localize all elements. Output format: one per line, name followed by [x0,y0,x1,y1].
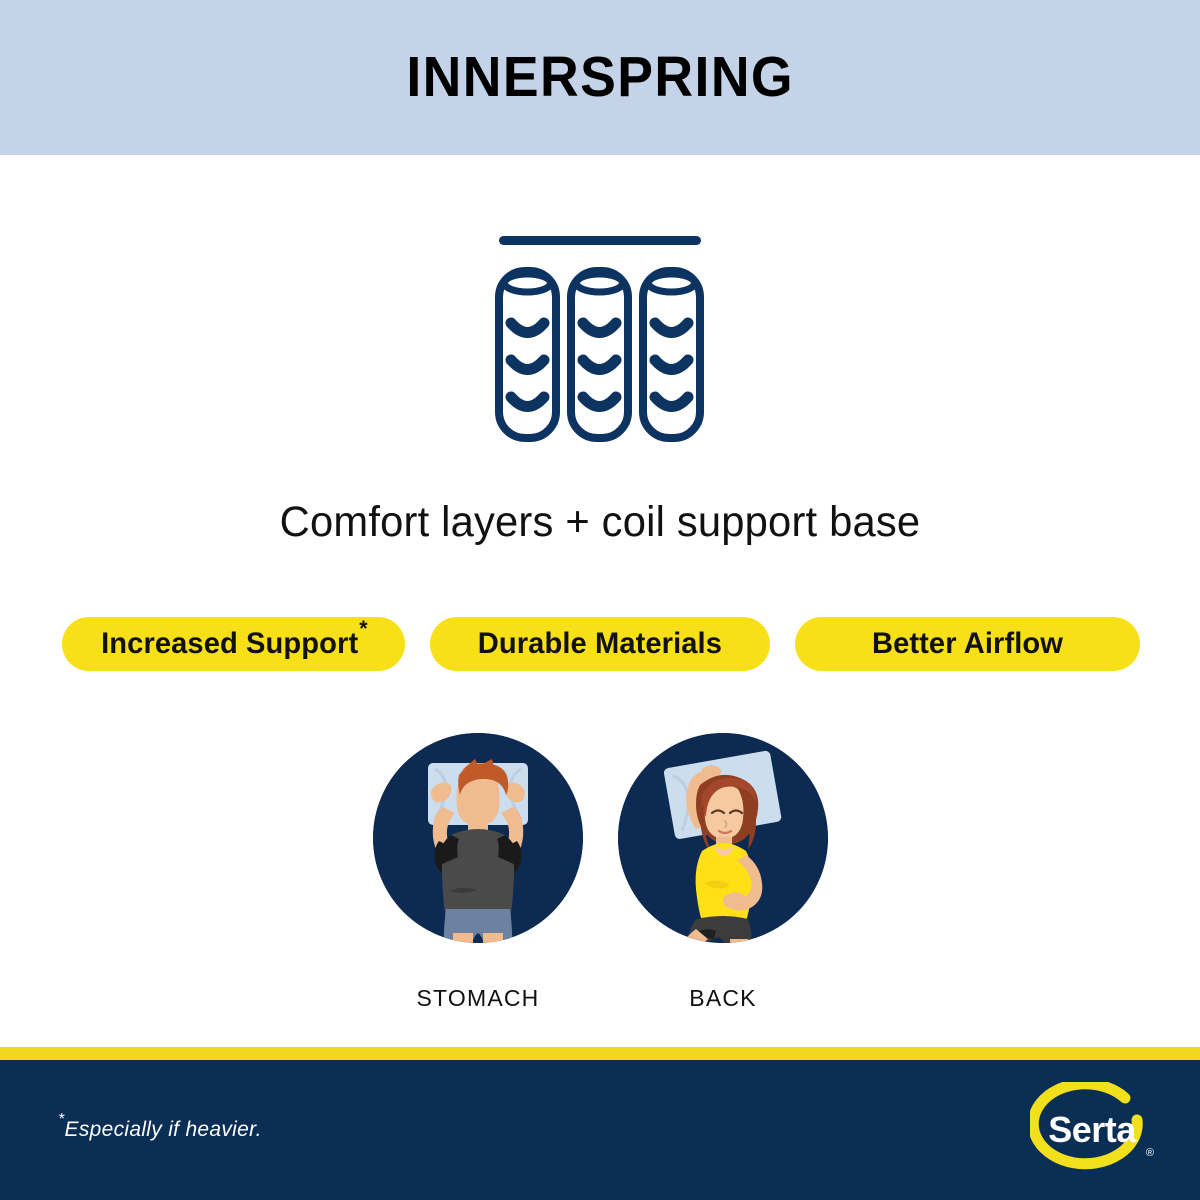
serta-logo[interactable]: Serta ® [1030,1082,1160,1182]
sleep-position-label-stomach: STOMACH [373,985,583,1012]
footnote-asterisk-icon: * [58,1111,65,1128]
serta-swoosh [1033,1084,1137,1164]
back-sleeper-illustration [618,733,828,943]
feature-pill-better-airflow[interactable]: Better Airflow [795,617,1140,671]
feature-pill-row: Increased Support* Durable Materials Bet… [62,617,1140,671]
shirt [439,829,517,921]
stomach-sleeper-illustration [373,733,583,943]
coil-3 [643,271,700,438]
sleep-position-card-back[interactable]: BACK [618,733,828,1012]
feature-pill-label: Durable Materials [478,627,722,660]
feature-pill-label: Increased Support [101,627,358,660]
header-band: INNERSPRING [0,0,1200,155]
footnote-marker-icon: * [359,616,367,641]
footnote-text: Especially if heavier. [65,1118,262,1141]
page-title: INNERSPRING [406,49,794,106]
feature-pill-increased-support[interactable]: Increased Support* [62,617,405,671]
coil-1 [499,271,556,438]
coil-stack-icon [480,225,720,450]
sleep-position-label-back: BACK [618,985,828,1012]
feature-pill-durable-materials[interactable]: Durable Materials [430,617,770,671]
feature-pill-label: Better Airflow [872,627,1063,660]
right-leg [483,933,503,943]
registered-trademark-icon: ® [1146,1147,1154,1159]
footnote: *Especially if heavier. [58,1118,262,1142]
subtitle: Comfort layers + coil support base [18,498,1182,547]
footer-accent-stripe [0,1047,1200,1060]
sleep-positions-row: STOMACH [0,725,1200,1025]
innerspring-infographic: INNERSPRING [0,0,1200,1200]
left-leg [453,933,473,943]
sleep-position-card-stomach[interactable]: STOMACH [373,733,583,1012]
coil-top-bar [499,236,701,245]
coil-2 [571,271,628,438]
